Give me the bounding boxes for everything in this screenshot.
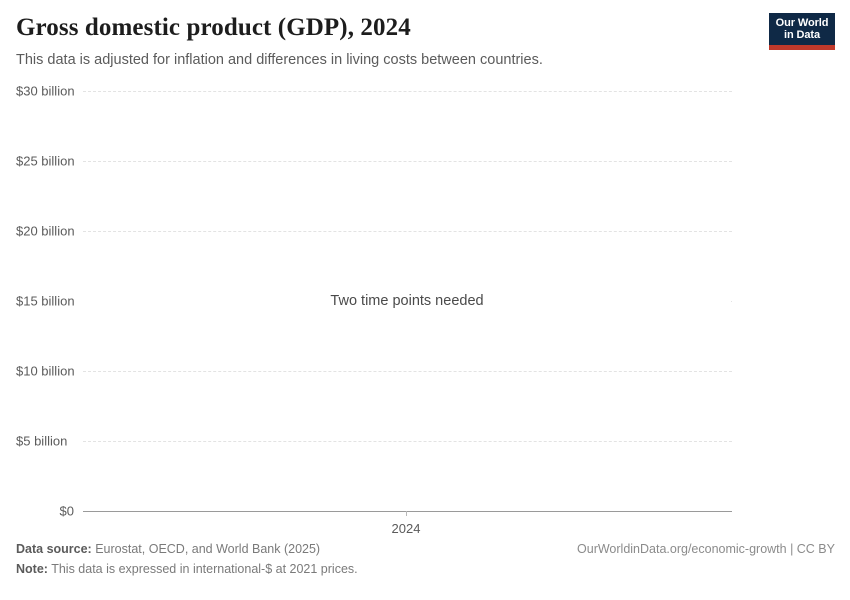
gridline xyxy=(83,91,732,92)
gridline xyxy=(83,371,732,372)
y-axis-tick-label: $25 billion xyxy=(0,154,74,169)
x-axis-tick-mark xyxy=(406,511,407,516)
gridline xyxy=(83,161,732,162)
x-axis-line xyxy=(83,511,732,512)
data-source: Data source: Eurostat, OECD, and World B… xyxy=(16,542,320,556)
data-source-label: Data source: xyxy=(16,542,92,556)
y-axis-tick-label: $5 billion xyxy=(0,434,74,449)
y-axis-tick-label: $30 billion xyxy=(0,84,74,99)
gridline xyxy=(83,441,732,442)
footer-row-source: Data source: Eurostat, OECD, and World B… xyxy=(16,542,835,562)
no-data-message: Two time points needed xyxy=(83,290,731,312)
footer-row-note: Note: This data is expressed in internat… xyxy=(16,562,835,582)
our-world-in-data-logo[interactable]: Our World in Data xyxy=(769,13,835,50)
chart-subtitle: This data is adjusted for inflation and … xyxy=(16,51,756,71)
y-axis-tick-label: $10 billion xyxy=(0,364,74,379)
y-axis-tick-label: $0 xyxy=(0,504,74,519)
y-axis-tick-label: $20 billion xyxy=(0,224,74,239)
gridline xyxy=(83,231,732,232)
chart-footer: Data source: Eurostat, OECD, and World B… xyxy=(16,542,835,582)
x-axis-tick-label: 2024 xyxy=(392,521,421,536)
note-label: Note: xyxy=(16,562,48,576)
data-source-value: Eurostat, OECD, and World Bank (2025) xyxy=(95,542,320,556)
chart-header: Gross domestic product (GDP), 2024 This … xyxy=(16,14,756,70)
attribution-link[interactable]: OurWorldinData.org/economic-growth | CC … xyxy=(577,542,835,556)
note-value: This data is expressed in international-… xyxy=(51,562,357,576)
logo-line-2: in Data xyxy=(769,29,835,41)
y-axis-tick-label: $15 billion xyxy=(0,294,74,309)
logo-line-1: Our World xyxy=(769,17,835,29)
chart-note: Note: This data is expressed in internat… xyxy=(16,562,358,576)
page-title: Gross domestic product (GDP), 2024 xyxy=(16,14,756,43)
